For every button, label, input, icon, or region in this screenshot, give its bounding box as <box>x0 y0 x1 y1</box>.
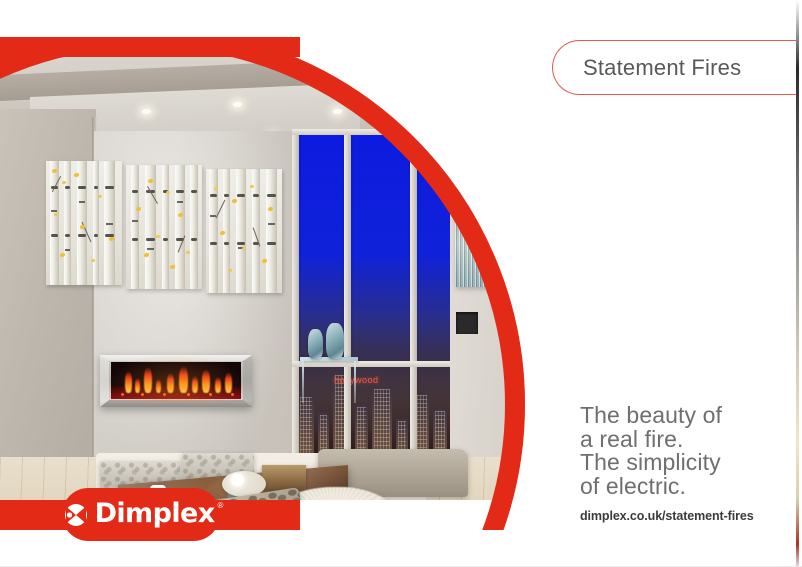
decorative-vase <box>308 329 323 359</box>
artwork-panel-3 <box>206 169 282 293</box>
hero-photo: hollywood <box>0 57 525 500</box>
hero-circular-mask: hollywood <box>0 57 525 500</box>
hollywood-sign-text: hollywood <box>334 375 379 385</box>
window-wall: hollywood <box>292 129 474 459</box>
fireplace-firebox <box>111 362 241 399</box>
decorative-vase <box>326 323 344 359</box>
brochure-page: hollywood <box>0 0 802 567</box>
artwork-right <box>455 177 489 287</box>
headline-line-4: of electric. <box>580 475 795 499</box>
downlight-icon <box>233 102 242 107</box>
dimplex-bowtie-icon <box>59 504 93 526</box>
decorative-box <box>262 465 306 491</box>
artwork-panel-1 <box>46 161 122 285</box>
statement-fires-tab-label: Statement Fires <box>583 55 741 81</box>
window-mullion <box>292 129 299 459</box>
statement-fires-tab[interactable]: Statement Fires <box>552 40 798 95</box>
hero-photo-clip: hollywood <box>0 57 540 500</box>
downlight-icon <box>142 109 151 114</box>
headline-line-2: a real fire. <box>580 428 795 452</box>
dimplex-logo: Dimplex ® <box>62 488 220 541</box>
window-mullion <box>410 129 417 459</box>
headline-line-1: The beauty of <box>580 404 795 428</box>
dimplex-wordmark: Dimplex <box>95 500 215 527</box>
hero-image-frame: hollywood <box>0 37 540 530</box>
wall-niche <box>456 312 478 334</box>
window-head <box>292 129 474 135</box>
linear-electric-fireplace <box>100 355 252 407</box>
downlight-icon <box>333 109 342 114</box>
window-mullion <box>344 129 351 459</box>
red-band-top <box>0 37 300 57</box>
headline-line-3: The simplicity <box>580 451 795 475</box>
artwork-panel-2 <box>126 165 202 289</box>
website-url[interactable]: dimplex.co.uk/statement-fires <box>580 509 754 523</box>
headline-block: The beauty of a real fire. The simplicit… <box>580 404 795 498</box>
registered-trademark-symbol: ® <box>218 501 224 510</box>
window-transom <box>292 361 474 367</box>
